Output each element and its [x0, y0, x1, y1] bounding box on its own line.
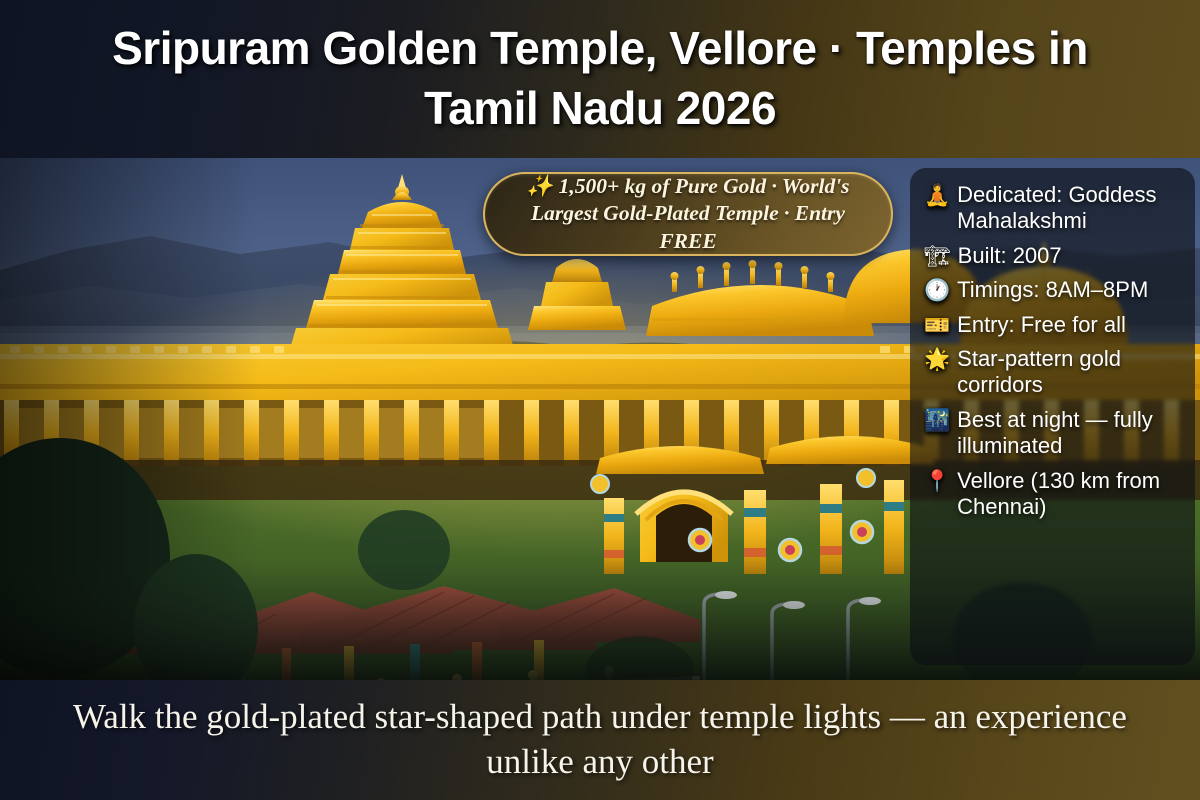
highlight-badge: ✨ 1,500+ kg of Pure Gold · World's Large…: [483, 172, 893, 256]
footer-caption: Walk the gold-plated star-shaped path un…: [70, 695, 1130, 785]
ticket-icon: 🎫: [924, 312, 950, 338]
fact-best-time: 🌃 Best at night — fully illuminated: [924, 407, 1183, 460]
night-city-icon: 🌃: [924, 407, 950, 433]
construction-icon: 🏗: [924, 243, 951, 269]
infographic-card: Sripuram Golden Temple, Vellore · Temple…: [0, 0, 1200, 800]
fact-built-label: Built: 2007: [958, 243, 1183, 269]
fact-corridors: 🌟 Star-pattern gold corridors: [924, 346, 1183, 399]
highlight-badge-label: 1,500+ kg of Pure Gold · World's Largest…: [531, 174, 850, 253]
fact-corridors-label: Star-pattern gold corridors: [957, 346, 1183, 399]
fact-dedicated-label: Dedicated: Goddess Mahalakshmi: [957, 182, 1183, 235]
fact-entry-label: Entry: Free for all: [957, 312, 1183, 338]
map-pin-icon: 📍: [924, 468, 950, 494]
deity-icon: 🧘: [924, 182, 950, 208]
highlight-badge-text: ✨ 1,500+ kg of Pure Gold · World's Large…: [503, 173, 873, 256]
footer-banner: Walk the gold-plated star-shaped path un…: [0, 680, 1200, 800]
fact-entry: 🎫 Entry: Free for all: [924, 312, 1183, 338]
fact-location: 📍 Vellore (130 km from Chennai): [924, 468, 1183, 521]
clock-icon: 🕐: [924, 277, 950, 303]
fact-dedicated: 🧘 Dedicated: Goddess Mahalakshmi: [924, 182, 1183, 235]
fact-timings-label: Timings: 8AM–8PM: [957, 277, 1183, 303]
header-banner: Sripuram Golden Temple, Vellore · Temple…: [0, 0, 1200, 158]
page-title: Sripuram Golden Temple, Vellore · Temple…: [70, 19, 1130, 139]
fact-timings: 🕐 Timings: 8AM–8PM: [924, 277, 1183, 303]
fact-best-time-label: Best at night — fully illuminated: [957, 407, 1183, 460]
fact-location-label: Vellore (130 km from Chennai): [957, 468, 1183, 521]
sparkles-icon: ✨: [526, 174, 553, 198]
glowing-star-icon: 🌟: [924, 346, 950, 372]
fact-built: 🏗 Built: 2007: [924, 243, 1183, 269]
facts-panel: 🧘 Dedicated: Goddess Mahalakshmi 🏗 Built…: [910, 168, 1195, 665]
